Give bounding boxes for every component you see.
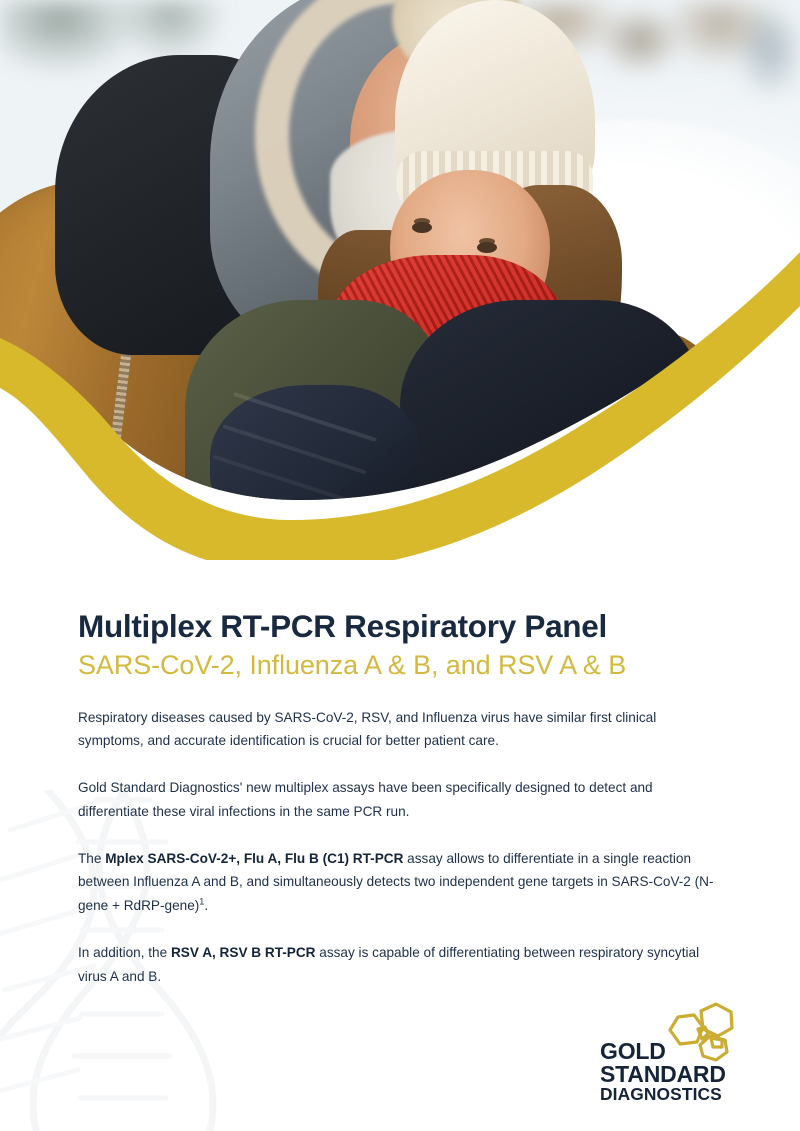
logo-line-diagnostics: DIAGNOSTICS (600, 1086, 740, 1103)
paragraph-rsv: In addition, the RSV A, RSV B RT-PCR ass… (78, 917, 722, 988)
hero-section (0, 0, 800, 560)
paragraph-assays: Gold Standard Diagnostics' new multiplex… (78, 752, 722, 823)
page-title: Multiplex RT-PCR Respiratory Panel (78, 560, 722, 645)
logo-line-gold: GOLD (600, 1040, 740, 1063)
company-logo: GOLD STANDARD DIAGNOSTICS (598, 1002, 738, 1106)
hero-photo (0, 0, 800, 520)
photo-navy-sleeve (400, 300, 700, 520)
photo-girl-eye-right (477, 242, 497, 253)
mplex-assay-name: Mplex SARS-CoV-2+, Flu A, Flu B (C1) RT-… (105, 851, 403, 866)
copy-block: Multiplex RT-PCR Respiratory Panel SARS-… (78, 560, 722, 988)
paragraph-mplex: The Mplex SARS-CoV-2+, Flu A, Flu B (C1)… (78, 823, 722, 917)
mplex-lead-text: The (78, 851, 105, 866)
logo-line-standard: STANDARD (600, 1063, 740, 1086)
logo-wordmark: GOLD STANDARD DIAGNOSTICS (600, 1040, 740, 1103)
mplex-trailing-punct: . (204, 898, 208, 913)
page-subtitle: SARS-CoV-2, Influenza A & B, and RSV A &… (78, 649, 722, 681)
rsv-assay-name: RSV A, RSV B RT-PCR (171, 945, 316, 960)
paragraph-assays-text: Gold Standard Diagnostics' new multiplex… (78, 780, 653, 818)
photo-girl-eye-left (412, 222, 432, 233)
paragraph-intro-text: Respiratory diseases caused by SARS-CoV-… (78, 710, 656, 748)
paragraph-intro: Respiratory diseases caused by SARS-CoV-… (78, 682, 722, 753)
rsv-lead-text: In addition, the (78, 945, 171, 960)
photo-glove (210, 385, 420, 520)
brochure-page: Multiplex RT-PCR Respiratory Panel SARS-… (0, 0, 800, 1131)
